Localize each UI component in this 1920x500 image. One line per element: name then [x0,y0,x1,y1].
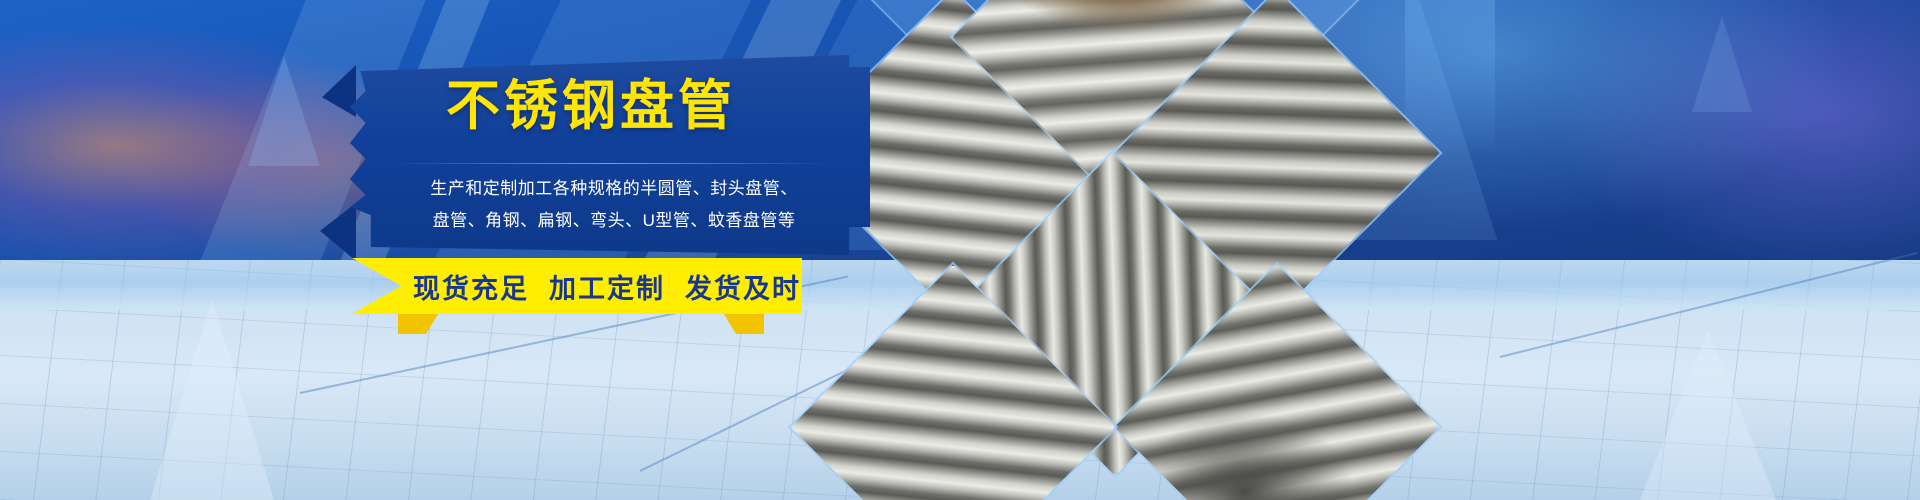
ribbon-text-group: 现货充足 加工定制 发货及时 [422,258,792,314]
light-triangle-upper-left [248,56,320,166]
ribbon-item-1: 现货充足 [413,267,529,306]
subtitle-line-2: 盘管、角钢、扁钢、弯头、U型管、蚊香盘管等 [374,205,854,237]
highlight-ribbon: 现货充足 加工定制 发货及时 [352,258,802,314]
panel-divider [390,163,830,164]
light-triangle-right [1640,330,1776,500]
light-triangle-left [150,300,274,500]
ribbon-item-3: 发货及时 [685,267,801,306]
product-photo-diamond-cluster [820,0,1460,500]
subtitle-line-1: 生产和定制加工各种规格的半圆管、封头盘管、 [374,173,854,205]
panel-subtitle: 生产和定制加工各种规格的半圆管、封头盘管、 盘管、角钢、扁钢、弯头、U型管、蚊香… [374,173,854,238]
headline-panel: 不锈钢盘管 生产和定制加工各种规格的半圆管、封头盘管、 盘管、角钢、扁钢、弯头、… [350,55,870,255]
ribbon-item-2: 加工定制 [549,267,665,306]
banner-stage: 不锈钢盘管 生产和定制加工各种规格的半圆管、封头盘管、 盘管、角钢、扁钢、弯头、… [0,0,1920,500]
light-triangle-upper-right [1692,16,1752,112]
page-title: 不锈钢盘管 [446,77,846,136]
